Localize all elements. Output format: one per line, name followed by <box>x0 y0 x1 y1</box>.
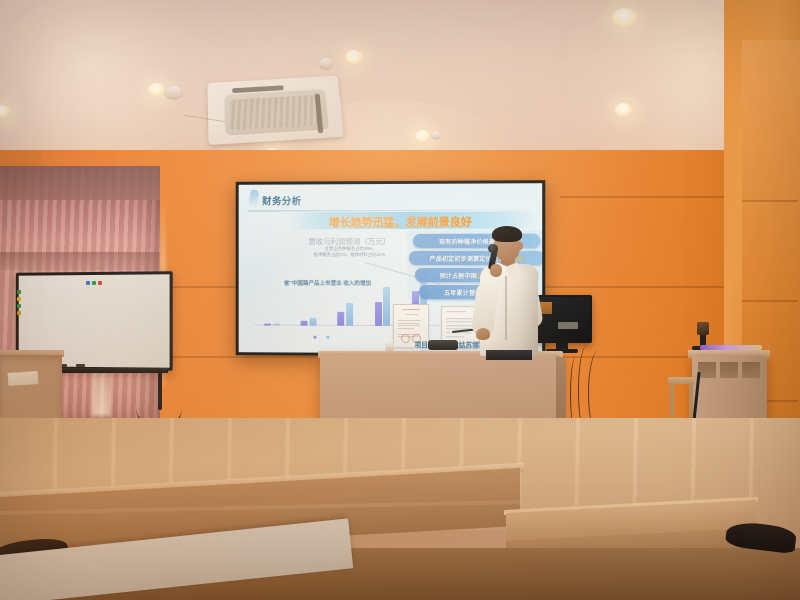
stool-leg <box>670 383 674 421</box>
presenter-ear <box>518 242 523 250</box>
bar-group <box>375 287 390 326</box>
presenter-right-hand <box>490 264 502 277</box>
magnet-icon <box>92 281 96 285</box>
air-conditioner-cassette <box>207 76 344 145</box>
shelf-cubby <box>698 362 716 378</box>
monitor-label <box>558 322 578 329</box>
magnet-icon <box>86 281 90 285</box>
magnet-icon <box>17 290 21 294</box>
curtain-shadow-band <box>0 252 160 270</box>
desk-object <box>385 343 394 351</box>
bar-series-2 <box>273 324 280 326</box>
smoke-detector-icon <box>166 86 181 98</box>
presenter-trousers <box>486 350 532 360</box>
smoke-detector-icon <box>432 132 440 138</box>
conference-room-photo: 财务分析 增长趋势迅猛，发展前景良好 营收与利润预测（万元） 主营业务种植毛占比… <box>0 0 800 600</box>
magnet-icon <box>17 311 21 315</box>
ceiling-light <box>615 103 632 116</box>
legend-dot-series-1 <box>313 336 316 339</box>
bar-series-1 <box>264 323 271 325</box>
presenter-left-hand <box>476 328 490 340</box>
chart-subtitle-line-2: 技术服务占比2%，植株材料占比11% <box>285 252 414 258</box>
bar-series-1 <box>301 321 308 326</box>
presenter <box>470 224 554 356</box>
bar-series-1 <box>338 312 345 326</box>
side-cabinet <box>0 355 62 423</box>
legend-dot-series-2 <box>326 336 329 339</box>
bar-group <box>301 318 316 326</box>
ceiling-light <box>148 83 165 96</box>
chart-legend <box>313 336 329 339</box>
paper-stack <box>8 371 39 386</box>
microphone-head-icon <box>488 244 498 253</box>
magnet-icon <box>17 304 21 308</box>
magnet-icon <box>17 297 21 301</box>
shelf-cubby <box>742 362 760 378</box>
ceiling-light <box>612 8 638 27</box>
curtain-valance <box>0 166 160 200</box>
recording-camera[interactable] <box>697 322 709 335</box>
bar-series-2 <box>309 318 316 326</box>
smoke-detector-icon <box>320 58 332 68</box>
ceiling-light <box>0 105 10 118</box>
presenter-hair <box>492 226 522 242</box>
bar-series-2 <box>346 303 353 326</box>
ceiling-light <box>345 50 363 64</box>
bar-group <box>264 323 279 325</box>
bar-series-2 <box>383 287 390 326</box>
bar-series-1 <box>375 302 382 326</box>
shirt-placket <box>505 276 507 340</box>
microphone-base <box>428 340 458 350</box>
magnet-icon <box>98 281 102 285</box>
slide-title: 财务分析 <box>262 193 301 207</box>
whiteboard-marker[interactable] <box>76 364 85 367</box>
shelf-cubby <box>720 362 738 378</box>
bar-group <box>338 303 353 326</box>
chart-subtitle: 主营业务种植毛占比89%, 技术服务占比2%，植株材料占比11% <box>285 246 414 258</box>
title-decoration-icon <box>248 190 260 207</box>
ceiling-light <box>415 130 430 142</box>
